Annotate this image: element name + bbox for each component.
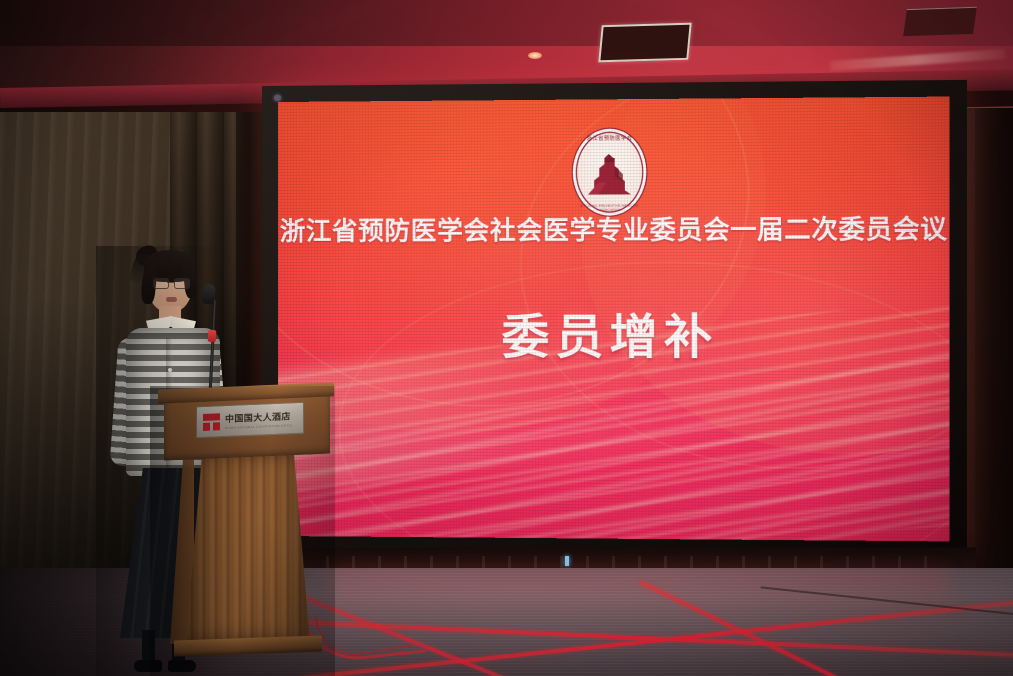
ceiling-downlight-icon xyxy=(528,52,542,59)
screen-status-led-icon xyxy=(565,556,569,566)
led-screen-display: 浙江省预防医学会 ZHEJIANG PREVENTIVE MEDICINE AS… xyxy=(278,97,949,542)
podium: 中国国大人酒店 CHINA NATIONAL CONVENTION HOTEL xyxy=(150,386,335,676)
eyeglass-lens-left xyxy=(153,278,169,289)
microphone-red-band xyxy=(208,330,217,342)
led-screen-assembly: 浙江省预防医学会 ZHEJIANG PREVENTIVE MEDICINE AS… xyxy=(262,86,950,552)
ceiling-vent-icon xyxy=(598,23,691,63)
ceiling-vent-secondary-icon xyxy=(903,7,977,37)
cardigan-button xyxy=(168,368,172,372)
podium-venue-plaque: 中国国大人酒店 CHINA NATIONAL CONVENTION HOTEL xyxy=(196,402,304,439)
ceiling-light-bar xyxy=(830,49,1005,71)
venue-plaque-text: 中国国大人酒店 CHINA NATIONAL CONVENTION HOTEL xyxy=(225,409,297,430)
eyeglasses-icon xyxy=(153,278,189,287)
right-wall-shadow xyxy=(975,108,1013,578)
screen-sensor-icon xyxy=(274,95,281,101)
microphone-head-icon xyxy=(202,283,216,304)
conference-photo-scene: 浙江省预防医学会 ZHEJIANG PREVENTIVE MEDICINE AS… xyxy=(0,0,1013,676)
speaker-mouth xyxy=(166,297,177,302)
eyeglass-lens-right xyxy=(174,278,190,289)
venue-logo-icon xyxy=(203,413,220,431)
ceiling-far-section xyxy=(0,0,1013,46)
screen-vignette xyxy=(278,97,949,542)
podium-body xyxy=(186,452,310,642)
eyeglass-bridge xyxy=(167,282,174,283)
